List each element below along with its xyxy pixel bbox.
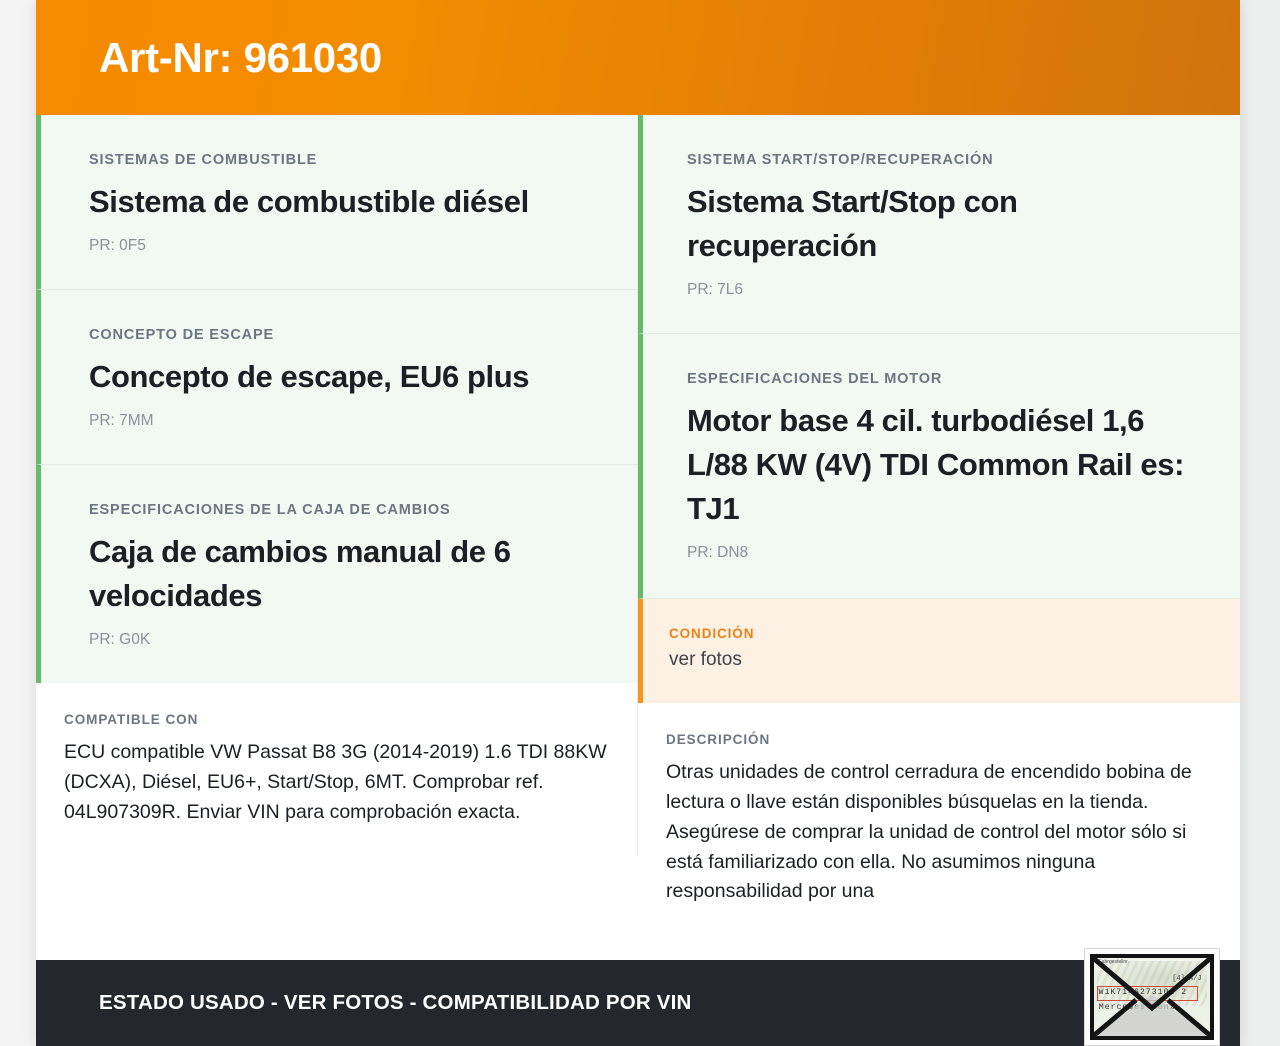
product-sheet: Art-Nr: 961030 SISTEMAS DE COMBUSTIBLE S…	[36, 0, 1240, 1046]
spec-title: Caja de cambios manual de 6 velocidades	[89, 530, 589, 618]
compatible-with-block: COMPATIBLE CON ECU compatible VW Passat …	[36, 683, 637, 855]
spec-card-fuel-system: SISTEMAS DE COMBUSTIBLE Sistema de combu…	[36, 115, 637, 290]
spec-label: ESPECIFICACIONES DE LA CAJA DE CAMBIOS	[89, 502, 589, 518]
compatible-with-text: ECU compatible VW Passat B8 3G (2014-201…	[64, 738, 611, 827]
spec-title: Motor base 4 cil. turbodiésel 1,6 L/88 K…	[687, 399, 1192, 531]
spec-card-engine: ESPECIFICACIONES DEL MOTOR Motor base 4 …	[638, 334, 1240, 599]
header-bar: Art-Nr: 961030	[36, 0, 1240, 115]
compatible-with-label: COMPATIBLE CON	[64, 712, 611, 727]
envelope-icon	[1090, 954, 1214, 1040]
condition-card: CONDICIÓN ver fotos	[638, 599, 1240, 703]
spec-label: ESPECIFICACIONES DEL MOTOR	[687, 371, 1192, 387]
spec-pr-code: PR: G0K	[89, 631, 589, 649]
spec-grid: SISTEMAS DE COMBUSTIBLE Sistema de combu…	[36, 115, 1240, 935]
condition-value: ver fotos	[669, 649, 1214, 671]
right-column: SISTEMA START/STOP/RECUPERACIÓN Sistema …	[638, 115, 1240, 935]
spec-card-gearbox: ESPECIFICACIONES DE LA CAJA DE CAMBIOS C…	[36, 465, 637, 683]
page-title: Art-Nr: 961030	[99, 37, 382, 79]
footer-bar: ESTADO USADO - VER FOTOS - COMPATIBILIDA…	[36, 960, 1240, 1046]
condition-label: CONDICIÓN	[669, 626, 1214, 641]
spec-pr-code: PR: DN8	[687, 544, 1192, 562]
spec-title: Sistema Start/Stop con recuperación	[687, 180, 1192, 268]
left-column: SISTEMAS DE COMBUSTIBLE Sistema de combu…	[36, 115, 638, 856]
spec-label: SISTEMAS DE COMBUSTIBLE	[89, 152, 589, 168]
spec-label: CONCEPTO DE ESCAPE	[89, 327, 589, 343]
spec-card-exhaust-concept: CONCEPTO DE ESCAPE Concepto de escape, E…	[36, 290, 637, 465]
footer-text: ESTADO USADO - VER FOTOS - COMPATIBILIDA…	[36, 991, 692, 1015]
description-text: Otras unidades de control cerradura de e…	[666, 758, 1214, 907]
description-label: DESCRIPCIÓN	[666, 732, 1214, 747]
description-block: DESCRIPCIÓN Otras unidades de control ce…	[638, 703, 1240, 935]
spec-title: Sistema de combustible diésel	[89, 180, 589, 224]
spec-pr-code: PR: 0F5	[89, 237, 589, 255]
vin-document-thumbnail[interactable]: Fahrgestellnr. [4] A/J W1K7146273101 2 M…	[1084, 948, 1220, 1046]
spec-pr-code: PR: 7MM	[89, 412, 589, 430]
spec-title: Concepto de escape, EU6 plus	[89, 355, 589, 399]
spec-pr-code: PR: 7L6	[687, 281, 1192, 299]
spec-label: SISTEMA START/STOP/RECUPERACIÓN	[687, 152, 1192, 168]
spec-card-start-stop: SISTEMA START/STOP/RECUPERACIÓN Sistema …	[638, 115, 1240, 334]
